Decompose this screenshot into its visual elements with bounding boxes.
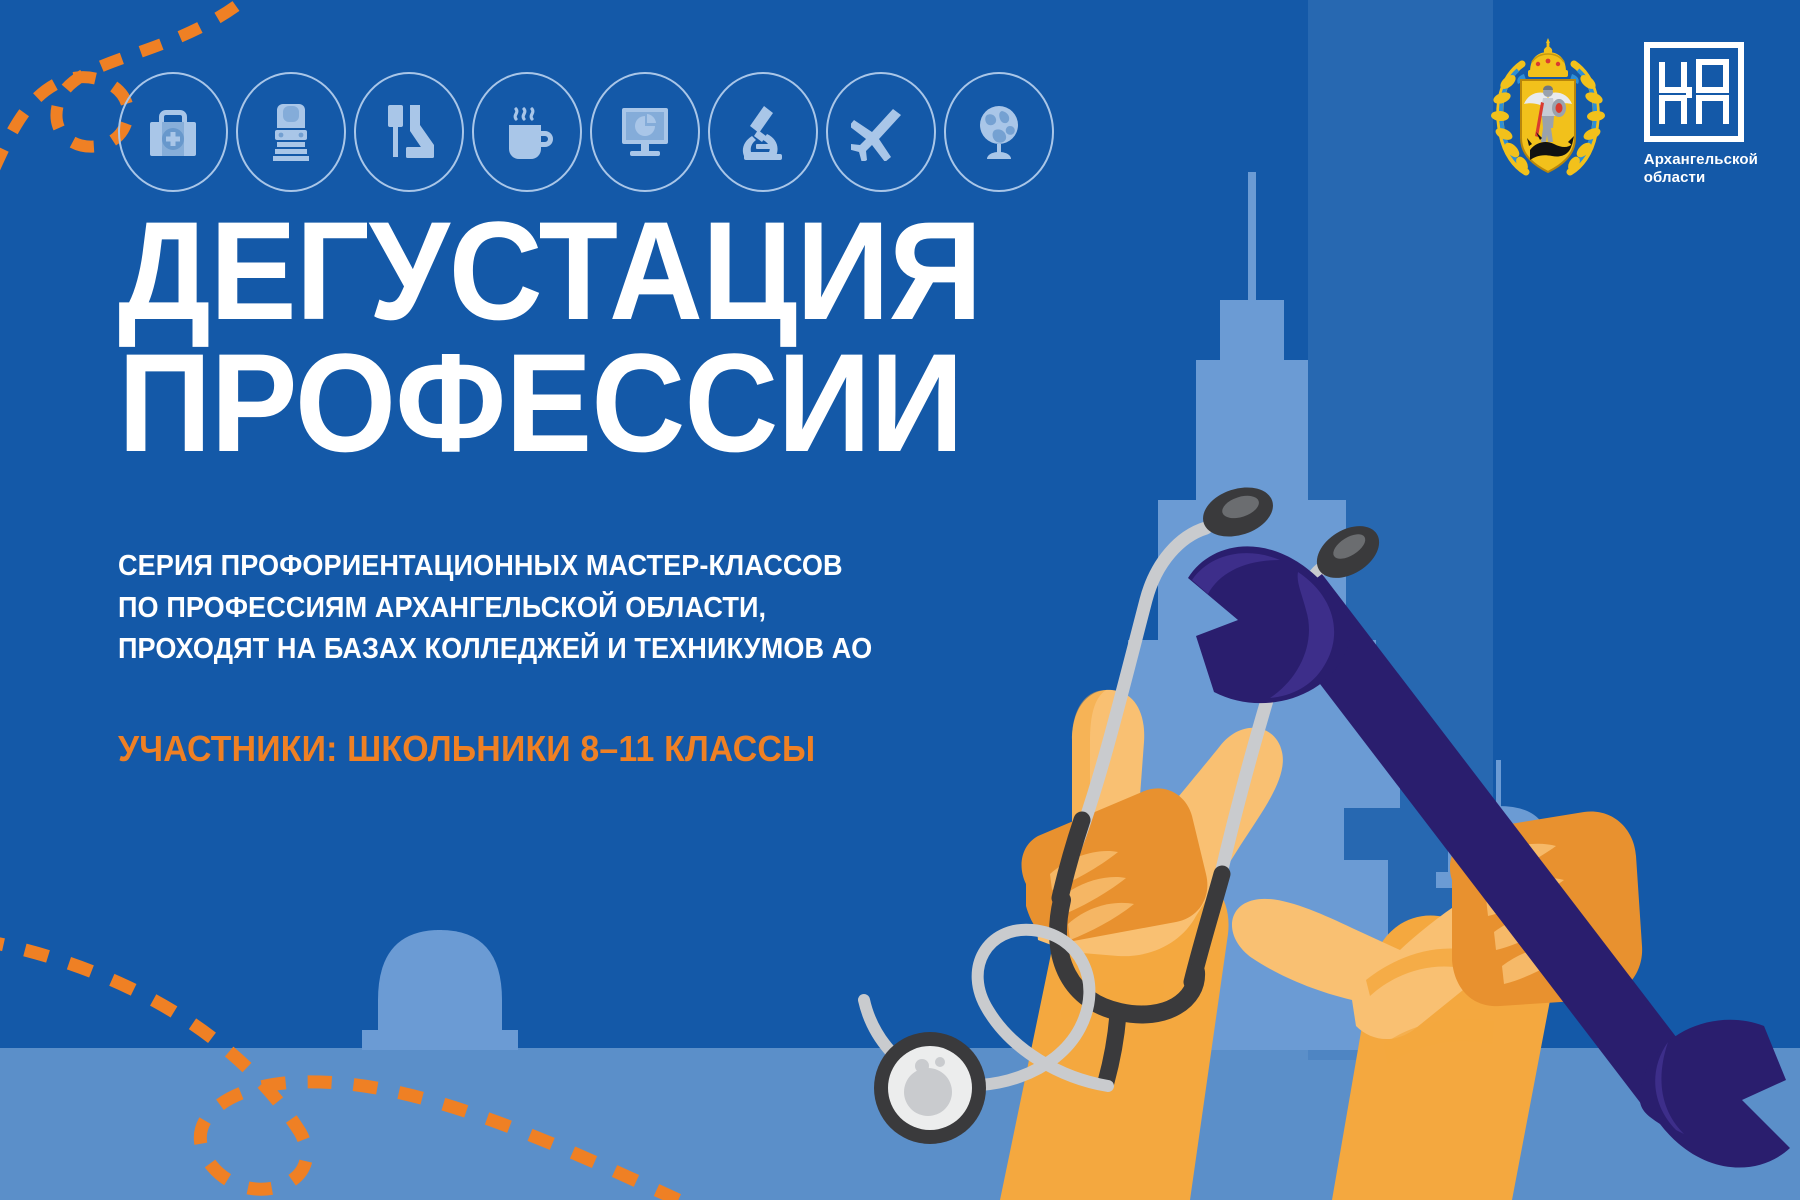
computer-chart-icon [590,72,700,192]
copp-caption-line2: области [1644,169,1758,187]
coffee-cup-icon [472,72,582,192]
page-title-line2: ПРОФЕССИИ [118,337,982,469]
heraldic-shield [1521,80,1575,172]
copp-mark [1644,42,1744,142]
medical-bag-icon [118,72,228,192]
subtitle-line-2: ПО ПРОФЕССИЯМ АРХАНГЕЛЬСКОЙ ОБЛАСТИ, [118,588,1000,629]
subtitle-line-3: ПРОХОДЯТ НА БАЗАХ КОЛЛЕДЖЕЙ И ТЕХНИКУМОВ… [118,629,1000,670]
locomotive-icon [236,72,346,192]
page-title-line1: ДЕГУСТАЦИЯ [118,205,982,337]
copp-logo: Архангельской области [1644,34,1758,188]
main-text-block: ДЕГУСТАЦИЯ ПРОФЕССИИ СЕРИЯ ПРОФОРИЕНТАЦИ… [118,205,1047,770]
participants-line: УЧАСТНИКИ: ШКОЛЬНИКИ 8–11 КЛАССЫ [118,728,991,770]
logo-row: Архангельской области [1488,34,1758,188]
microscope-icon [708,72,818,192]
copp-caption: Архангельской области [1644,151,1758,188]
poster-root: Архангельской области ДЕГУСТАЦИЯ ПРОФЕСС… [0,0,1800,1200]
profession-icon-strip [118,72,1054,192]
arkhangelsk-coat-of-arms [1488,34,1608,184]
subtitle-block: СЕРИЯ ПРОФОРИЕНТАЦИОННЫХ МАСТЕР-КЛАССОВ … [118,546,1000,670]
imperial-crown [1517,38,1579,84]
construction-tools-icon [354,72,464,192]
globe-icon [944,72,1054,192]
airplane-icon [826,72,936,192]
copp-caption-line1: Архангельской [1644,151,1758,169]
subtitle-line-1: СЕРИЯ ПРОФОРИЕНТАЦИОННЫХ МАСТЕР-КЛАССОВ [118,546,1000,587]
